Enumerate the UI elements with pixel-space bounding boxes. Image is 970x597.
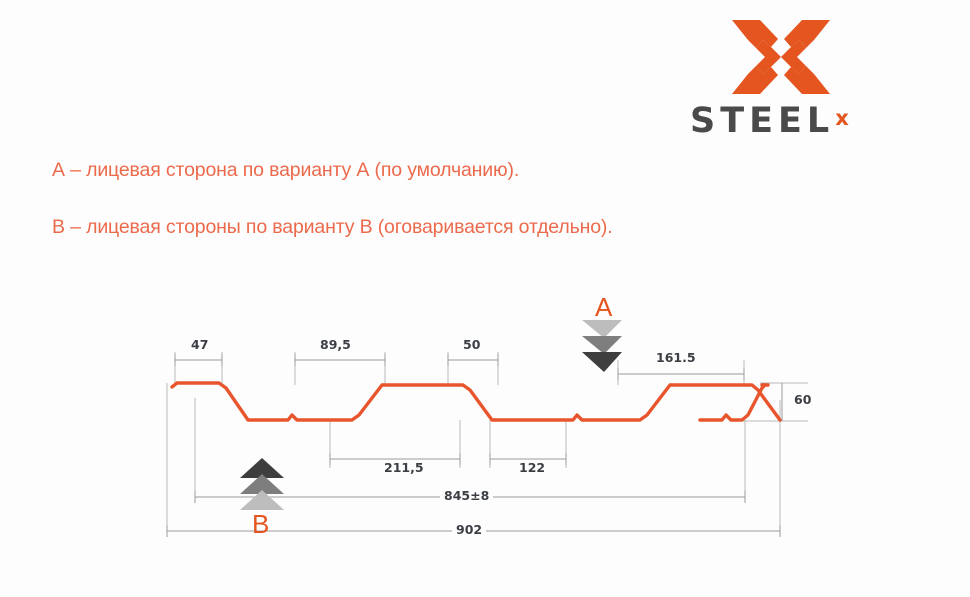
marker-label-b: B (252, 511, 269, 537)
dim-label-rib-width-1: 89,5 (316, 339, 355, 352)
dim-label-effective-width: 845±8 (440, 490, 493, 503)
profile-outline (172, 383, 780, 420)
dim-label-rib-pitch: 211,5 (380, 462, 428, 475)
marker-b-chevrons (240, 458, 284, 510)
dim-label-total-width: 902 (452, 524, 486, 537)
profile-right-tail (700, 385, 765, 420)
dim-label-profile-height: 60 (790, 394, 815, 407)
page-root: STEEL x А – лицевая сторона по варианту … (0, 0, 970, 597)
marker-a-chevrons (582, 320, 622, 372)
dim-label-top-flange-left: 47 (187, 339, 212, 352)
profile-technical-drawing (0, 0, 970, 597)
dim-label-rib-top-width: 50 (459, 339, 484, 352)
dim-label-valley-width: 122 (515, 462, 549, 475)
dim-label-pitch-right: 161.5 (652, 352, 700, 365)
marker-label-a: A (595, 294, 612, 320)
